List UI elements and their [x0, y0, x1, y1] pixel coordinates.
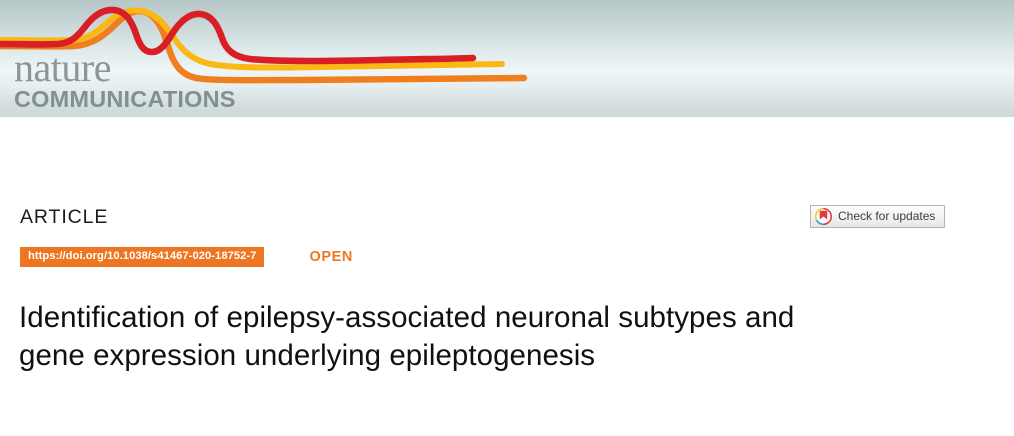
crossmark-icon	[815, 208, 832, 225]
page-title: Identification of epilepsy-associated ne…	[19, 299, 819, 375]
check-for-updates-label: Check for updates	[838, 210, 935, 223]
open-access-badge: OPEN	[309, 249, 353, 265]
journal-logo: nature COMMUNICATIONS	[14, 51, 236, 112]
journal-masthead: nature COMMUNICATIONS	[0, 0, 1014, 117]
journal-subtitle: COMMUNICATIONS	[14, 86, 236, 112]
journal-name: nature	[14, 51, 236, 85]
article-meta-row: https://doi.org/10.1038/s41467-020-18752…	[20, 247, 353, 267]
doi-badge[interactable]: https://doi.org/10.1038/s41467-020-18752…	[20, 247, 264, 267]
article-type-label: ARTICLE	[20, 206, 108, 229]
check-for-updates-button[interactable]: Check for updates	[810, 205, 945, 228]
